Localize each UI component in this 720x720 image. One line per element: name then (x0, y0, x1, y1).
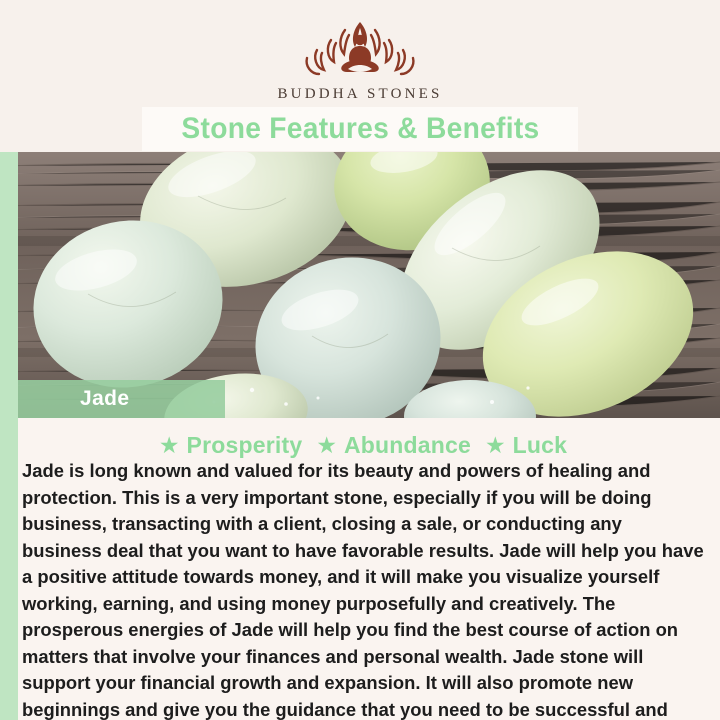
stone-description: Jade is long known and valued for its be… (18, 458, 708, 720)
brand-name: BUDDHA STONES (277, 86, 442, 103)
stone-name: Jade (80, 387, 129, 411)
brand-logo: BUDDHA STONES (0, 14, 720, 103)
stone-name-badge: Jade (18, 380, 225, 418)
benefit-prosperity: ★ Prosperity (159, 432, 302, 459)
stone-info-card: BUDDHA STONES Stone Features & Benefits (0, 0, 720, 720)
lotus-meditation-icon (285, 14, 435, 82)
benefit-label: Prosperity (187, 432, 303, 459)
star-icon: ★ (159, 434, 180, 457)
page-title: Stone Features & Benefits (181, 112, 539, 146)
left-accent-band (0, 152, 18, 720)
benefit-label: Abundance (344, 432, 471, 459)
benefits-row: ★ Prosperity ★ Abundance ★ Luck (18, 430, 708, 460)
star-icon: ★ (485, 434, 506, 457)
jade-stones-image (0, 152, 720, 418)
star-icon: ★ (316, 434, 337, 457)
benefit-luck: ★ Luck (485, 432, 567, 459)
stone-photo (0, 152, 720, 418)
title-banner: Stone Features & Benefits (142, 107, 578, 151)
benefit-abundance: ★ Abundance (316, 432, 471, 459)
benefit-label: Luck (513, 432, 567, 459)
